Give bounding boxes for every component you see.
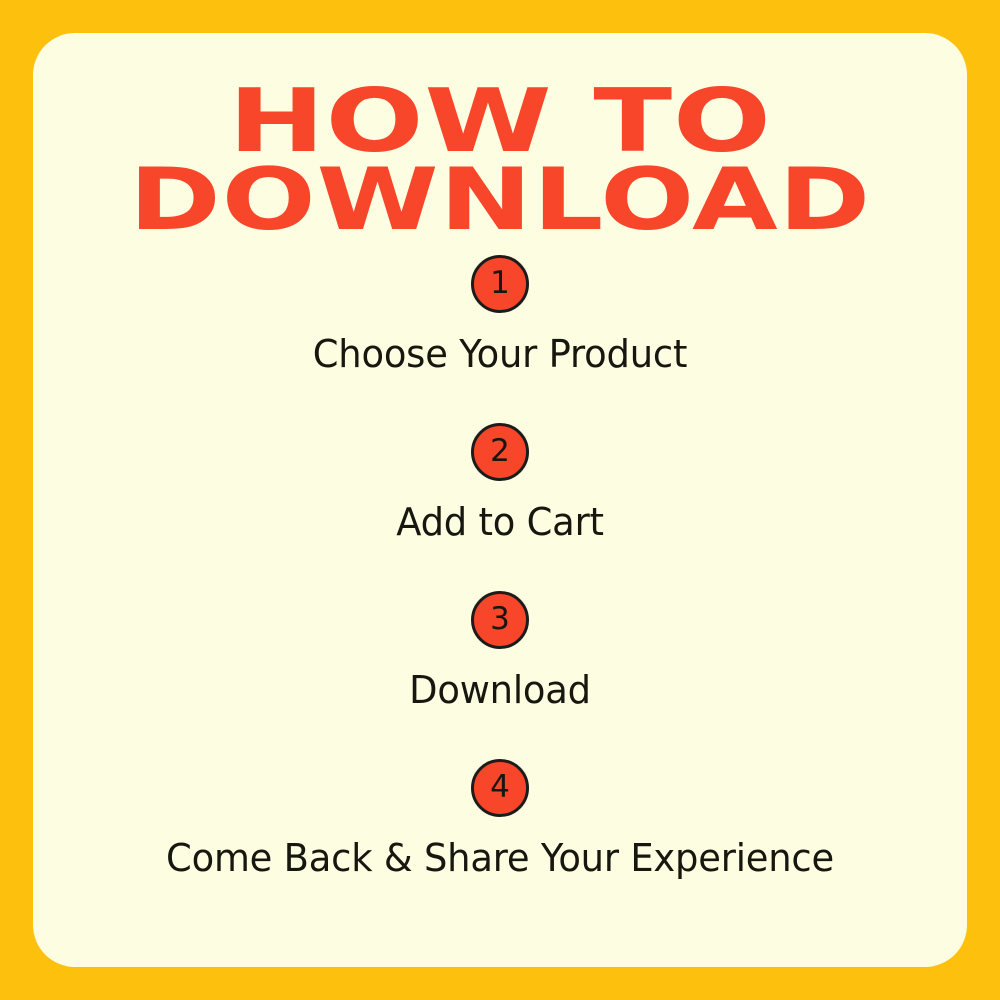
page-title-line-2: DOWNLOAD [33, 164, 967, 238]
step-badge-2: 2 [471, 423, 529, 481]
poster-frame: HOW TO DOWNLOAD 1 Choose Your Product 2 … [0, 0, 1000, 1000]
list-item: 3 Download [33, 591, 967, 759]
step-badge-1: 1 [471, 255, 529, 313]
step-badge-3: 3 [471, 591, 529, 649]
step-label-2: Add to Cart [47, 501, 953, 545]
page-title-line-1: HOW TO [33, 85, 967, 160]
list-item: 2 Add to Cart [33, 423, 967, 591]
step-number-2: 2 [490, 436, 510, 467]
step-number-1: 1 [490, 268, 510, 299]
step-number-3: 3 [490, 604, 510, 635]
page-title: HOW TO DOWNLOAD [33, 85, 967, 231]
step-badge-4: 4 [471, 759, 529, 817]
step-label-4: Come Back & Share Your Experience [47, 837, 953, 881]
step-label-1: Choose Your Product [47, 333, 953, 377]
steps-list: 1 Choose Your Product 2 Add to Cart 3 Do… [33, 255, 967, 927]
step-number-4: 4 [490, 772, 510, 803]
poster-card: HOW TO DOWNLOAD 1 Choose Your Product 2 … [33, 33, 967, 967]
step-label-3: Download [47, 669, 953, 713]
list-item: 1 Choose Your Product [33, 255, 967, 423]
list-item: 4 Come Back & Share Your Experience [33, 759, 967, 927]
